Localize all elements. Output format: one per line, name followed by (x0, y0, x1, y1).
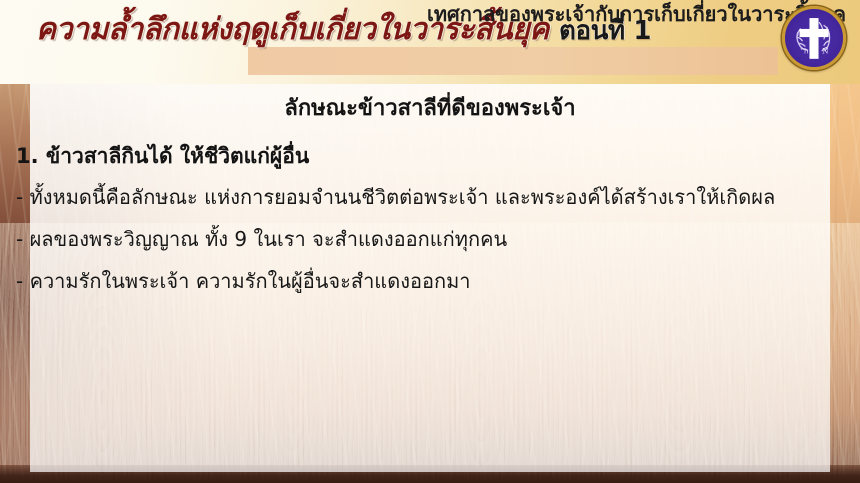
bullet-item: - ทั้งหมดนี้คือลักษณะ แห่งการยอมจำนนชีวิ… (16, 182, 821, 213)
point-1-title: 1. ข้าวสาลีกินได้ ให้ชีวิตแก่ผู้อื่น (16, 140, 309, 173)
bullet-list: - ทั้งหมดนี้คือลักษณะ แห่งการยอมจำนนชีวิ… (16, 182, 832, 308)
slide-subtitle: เทศกาลของพระเจ้ากับการเก็บเกี่ยวในวาระสิ… (0, 1, 846, 28)
presentation-slide: ความล้ำลึกแห่งฤดูเก็บเกี่ยวในวาระสิ้นยุค… (0, 0, 860, 483)
bullet-item: - ความรักในพระเจ้า ความรักในผู้อื่นจะสำแ… (16, 266, 832, 297)
section-heading: ลักษณะข้าวสาลีที่ดีของพระเจ้า (30, 90, 830, 125)
ministry-cross-lion-logo: ก N (782, 6, 846, 70)
slide-body: ลักษณะข้าวสาลีที่ดีของพระเจ้า 1. ข้าวสาล… (30, 84, 830, 472)
svg-text:N: N (822, 46, 829, 55)
bullet-item: - ผลของพระวิญญาณ ทั้ง 9 ในเรา จะสำแดงออก… (16, 224, 832, 255)
svg-text:ก: ก (804, 46, 808, 55)
